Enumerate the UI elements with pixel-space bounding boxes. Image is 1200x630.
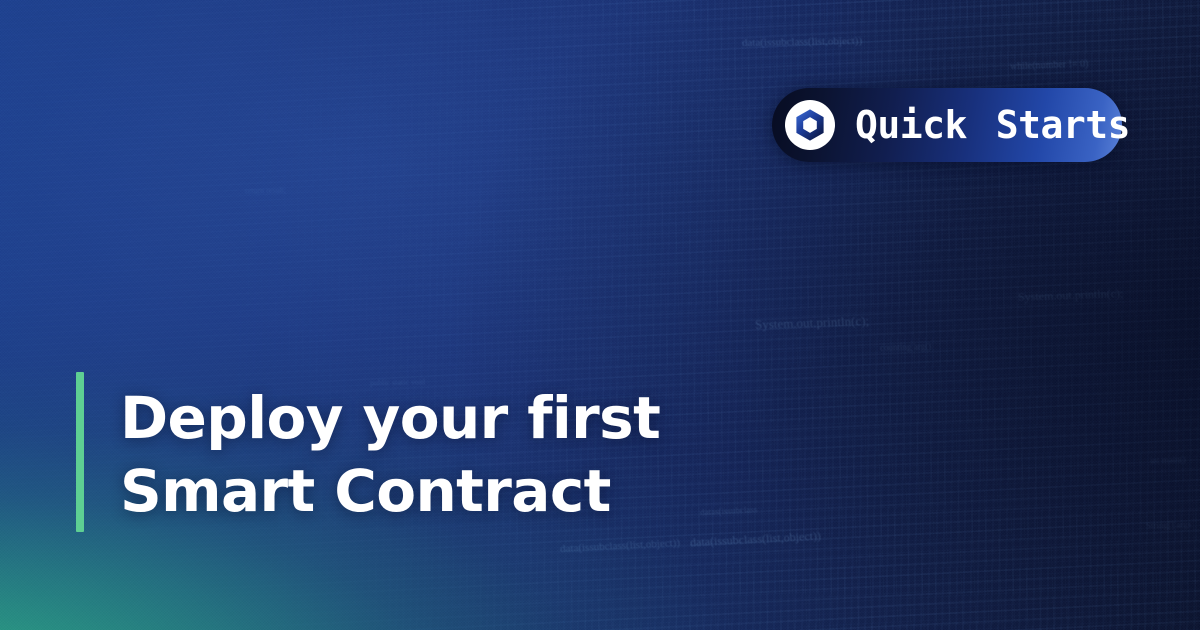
headline-accent-bar [76, 372, 84, 532]
page-title-line-1: Deploy your first [120, 382, 760, 455]
chainlink-logo-circle [785, 100, 835, 150]
banner-canvas: data(issubclass(list,object))while(numbe… [0, 0, 1200, 630]
badge-label-quick: Quick [855, 103, 967, 147]
badge-label-starts: Starts [996, 103, 1130, 147]
badge-label-gap [967, 103, 996, 147]
chainlink-hexagon-icon [793, 108, 827, 142]
quickstarts-badge-label: Quick Starts [855, 106, 1130, 144]
page-title-line-2: Smart Contract [120, 455, 760, 528]
quickstarts-badge[interactable]: Quick Starts [772, 88, 1122, 162]
page-title: Deploy your first Smart Contract [120, 382, 760, 527]
